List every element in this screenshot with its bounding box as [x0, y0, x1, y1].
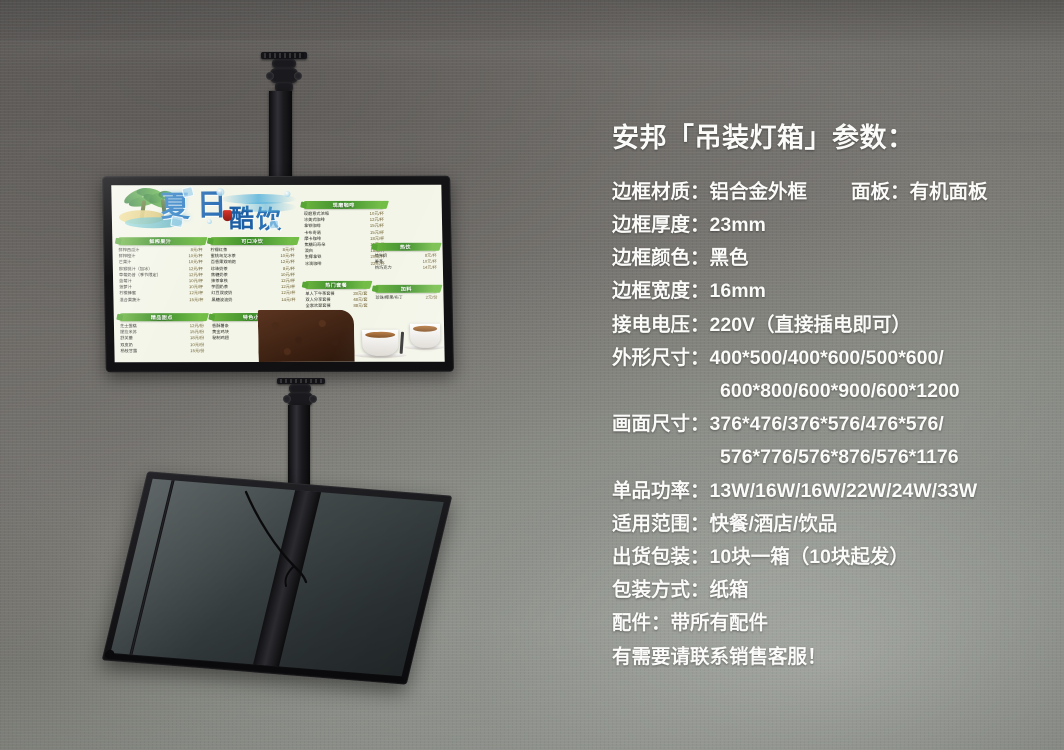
spec-row-frame-width: 边框宽度：16mm: [612, 275, 1040, 308]
spec-label: 接电电压：: [612, 314, 710, 336]
spec-value: 10块一箱（10块起发）: [710, 546, 909, 568]
spec-label: 外形尺寸：: [612, 347, 710, 369]
spec-row-voltage: 接电电压：220V（直接插电即可）: [612, 309, 1040, 342]
spec-row-power: 单品功率：13W/16W/16W/22W/24W/33W: [612, 475, 1040, 508]
spec-value: 23mm: [710, 214, 766, 236]
spec-label: 适用范围：: [612, 513, 710, 535]
lower-mount-bolt-left: [283, 395, 291, 403]
spec-label: 边框宽度：: [612, 280, 710, 302]
spec-heading: 安邦「吊装灯箱」参数：: [612, 124, 1040, 154]
spec-label: 单品功率：: [612, 480, 710, 502]
spec-row-graphic-size: 画面尺寸：376*476/376*576/476*576/: [612, 408, 1040, 441]
spec-value: 快餐/酒店/饮品: [710, 513, 838, 535]
spec-value-extra: 有机面板: [910, 181, 988, 203]
spec-label: 出货包装：: [612, 546, 710, 568]
spec-value: 13W/16W/16W/22W/24W/33W: [710, 480, 978, 502]
spec-value: 16mm: [710, 280, 766, 302]
spec-value: 纸箱: [710, 579, 749, 601]
lower-mount-bolt-right: [309, 395, 317, 403]
spec-row-accessories: 配件：带所有配件: [612, 607, 1040, 640]
spec-value: 铝合金外框: [710, 181, 808, 203]
lower-mount-plate-texture: [280, 379, 322, 383]
spec-label-extra: 面板：: [807, 181, 910, 203]
spec-row-outer-size-cont: 600*800/600*900/600*1200: [612, 375, 1040, 408]
spec-value: 黑色: [710, 247, 749, 269]
spec-row-frame-thickness: 边框厚度：23mm: [612, 209, 1040, 242]
light-box-rear: [102, 471, 453, 684]
spec-row-graphic-size-cont: 576*776/576*876/576*1176: [612, 441, 1040, 474]
spec-row-outer-size: 外形尺寸：400*500/400*600/500*600/: [612, 342, 1040, 375]
spec-row-packaging: 包装方式：纸箱: [612, 574, 1040, 607]
spec-row-contact-note: 有需要请联系销售客服！: [612, 641, 1040, 674]
spec-value: 220V（直接插电即可）: [710, 314, 912, 336]
spec-label: 包装方式：: [612, 579, 710, 601]
spec-row-frame-material: 边框材质：铝合金外框面板：有机面板: [612, 176, 1040, 209]
spec-value: 400*500/400*600/500*600/: [710, 347, 944, 369]
spec-row-shipping-pack: 出货包装：10块一箱（10块起发）: [612, 541, 1040, 574]
spec-label: 边框颜色：: [612, 247, 710, 269]
spec-label: 配件：: [612, 612, 671, 634]
spec-label: 边框厚度：: [612, 214, 710, 236]
spec-row-application: 适用范围：快餐/酒店/饮品: [612, 508, 1040, 541]
spec-value: 376*476/376*576/476*576/: [710, 413, 944, 435]
spec-label: 画面尺寸：: [612, 413, 710, 435]
spec-text-panel: 安邦「吊装灯箱」参数： 边框材质：铝合金外框面板：有机面板 边框厚度：23mm …: [612, 124, 1040, 674]
spec-label: 边框材质：: [612, 181, 710, 203]
spec-row-frame-color: 边框颜色：黑色: [612, 242, 1040, 275]
spec-value: 带所有配件: [671, 612, 769, 634]
